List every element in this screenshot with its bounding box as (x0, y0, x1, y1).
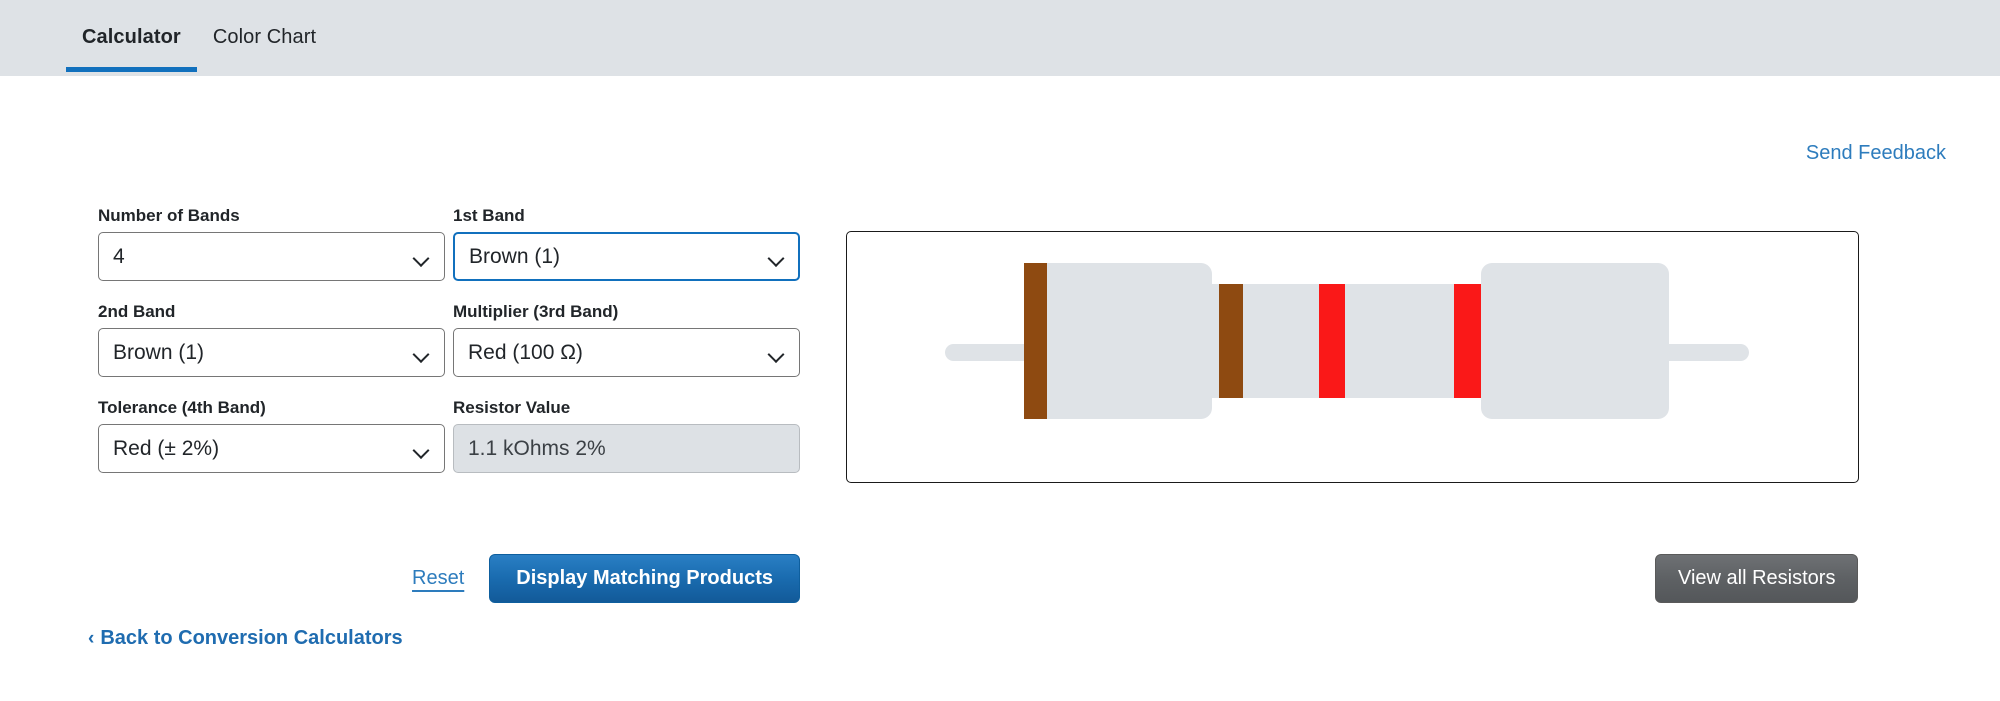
form-row-3: Tolerance (4th Band) Red (± 2%) Resistor… (98, 397, 800, 473)
resistor-value-label: Resistor Value (453, 397, 800, 419)
resistor-band-1 (1024, 263, 1047, 419)
multiplier-select-wrap: Red (100 Ω) (453, 328, 800, 377)
tolerance-select-wrap: Red (± 2%) (98, 424, 445, 473)
resistor-value-output: 1.1 kOhms 2% (453, 424, 800, 473)
number-of-bands-select-wrap: 4 (98, 232, 445, 281)
reset-link[interactable]: Reset (412, 567, 464, 590)
tolerance-value: Red (± 2%) (113, 437, 219, 461)
number-of-bands-value: 4 (113, 245, 125, 269)
view-all-resistors-button[interactable]: View all Resistors (1655, 554, 1858, 603)
resistor-calculator-form: Number of Bands 4 1st Band Brown (1) 2nd… (98, 205, 800, 473)
row-spacer (98, 377, 800, 397)
resistor-diagram-panel (846, 231, 1859, 483)
band-1-value: Brown (1) (469, 245, 560, 269)
resistor-body-left (1026, 263, 1212, 419)
multiplier-select[interactable]: Red (100 Ω) (453, 328, 800, 377)
form-row-1: Number of Bands 4 1st Band Brown (1) (98, 205, 800, 281)
resistor-band-3 (1319, 284, 1345, 398)
tab-list: Calculator Color Chart (66, 0, 332, 76)
multiplier-label: Multiplier (3rd Band) (453, 301, 800, 323)
band-2-select[interactable]: Brown (1) (98, 328, 445, 377)
chevron-left-icon: ‹ (88, 629, 94, 648)
form-row-2: 2nd Band Brown (1) Multiplier (3rd Band)… (98, 301, 800, 377)
multiplier-value: Red (100 Ω) (468, 341, 583, 365)
field-resistor-value: Resistor Value 1.1 kOhms 2% (453, 397, 800, 473)
resistor-band-2 (1219, 284, 1243, 398)
field-band-1: 1st Band Brown (1) (453, 205, 800, 281)
tolerance-select[interactable]: Red (± 2%) (98, 424, 445, 473)
tolerance-label: Tolerance (4th Band) (98, 397, 445, 419)
form-actions: Reset Display Matching Products (98, 554, 800, 603)
resistor-band-4 (1454, 284, 1481, 398)
tab-calculator-label: Calculator (82, 26, 181, 48)
tab-calculator[interactable]: Calculator (66, 0, 197, 76)
field-number-of-bands: Number of Bands 4 (98, 205, 445, 281)
send-feedback-link[interactable]: Send Feedback (1806, 142, 1946, 165)
field-multiplier: Multiplier (3rd Band) Red (100 Ω) (453, 301, 800, 377)
number-of-bands-select[interactable]: 4 (98, 232, 445, 281)
band-2-label: 2nd Band (98, 301, 445, 323)
display-matching-products-button[interactable]: Display Matching Products (489, 554, 800, 603)
back-to-conversion-calculators-link[interactable]: ‹ Back to Conversion Calculators (88, 627, 403, 650)
back-link-label: Back to Conversion Calculators (100, 627, 402, 650)
band-1-label: 1st Band (453, 205, 800, 227)
number-of-bands-label: Number of Bands (98, 205, 445, 227)
band-1-select[interactable]: Brown (1) (453, 232, 800, 281)
resistor-body-right (1481, 263, 1669, 419)
resistor-body-middle (1212, 284, 1481, 398)
tab-color-chart[interactable]: Color Chart (197, 0, 332, 76)
resistor-illustration (847, 232, 1858, 482)
row-spacer (98, 281, 800, 301)
tab-bar: Calculator Color Chart (0, 0, 2000, 76)
band-2-value: Brown (1) (113, 341, 204, 365)
band-2-select-wrap: Brown (1) (98, 328, 445, 377)
resistor-value-text: 1.1 kOhms 2% (468, 437, 606, 461)
field-tolerance: Tolerance (4th Band) Red (± 2%) (98, 397, 445, 473)
tab-color-chart-label: Color Chart (213, 26, 316, 48)
field-band-2: 2nd Band Brown (1) (98, 301, 445, 377)
band-1-select-wrap: Brown (1) (453, 232, 800, 281)
